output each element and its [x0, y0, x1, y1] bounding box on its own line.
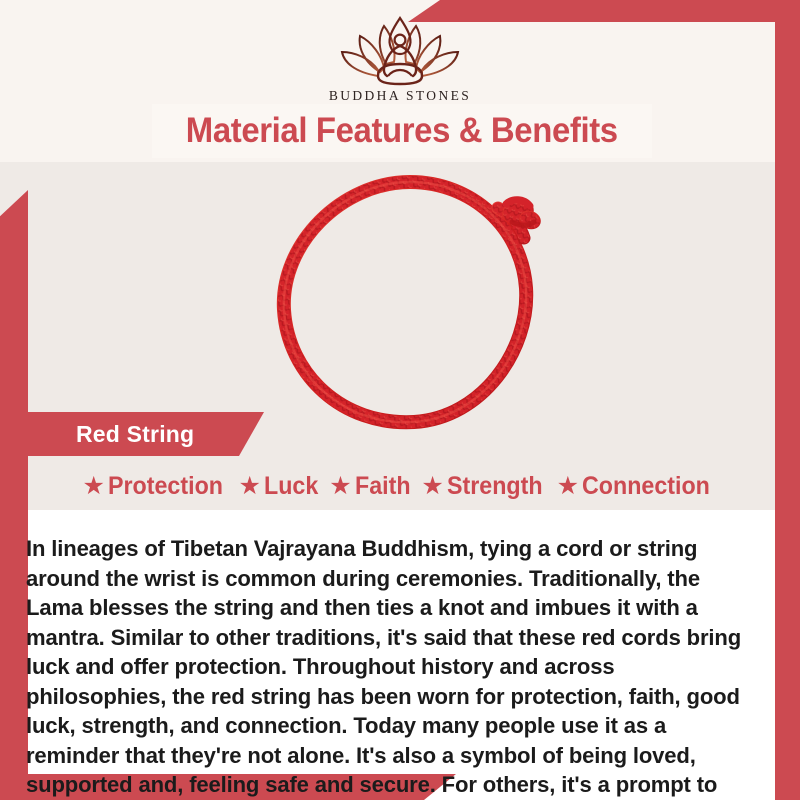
benefit-keyword-protection: ★ Protection: [82, 472, 231, 501]
brand-logo: BUDDHA STONES: [0, 14, 800, 104]
benefit-keyword-label: Protection: [108, 472, 223, 501]
star-icon: ★: [329, 474, 351, 499]
infographic-poster: BUDDHA STONES Material Features & Benefi…: [0, 0, 800, 800]
benefit-keyword-label: Luck: [264, 472, 318, 501]
decorative-red-strip-left: [0, 190, 28, 800]
star-icon: ★: [557, 474, 579, 499]
star-icon: ★: [421, 474, 443, 499]
title-banner: Material Features & Benefits: [152, 104, 652, 158]
lotus-meditation-figure-icon: [334, 14, 466, 86]
star-icon: ★: [82, 474, 104, 499]
red-string-bracelet-illustration: [250, 168, 570, 440]
description-paragraph: In lineages of Tibetan Vajrayana Buddhis…: [26, 534, 757, 800]
benefit-keyword-luck: ★ Luck: [239, 472, 323, 501]
benefit-keyword-connection: ★ Connection: [557, 472, 720, 501]
decorative-red-strip-right: [775, 0, 800, 800]
benefit-keyword-faith: ★ Faith: [329, 472, 414, 501]
benefit-keyword-list: ★ Protection ★ Luck ★ Faith ★ Strength ★…: [28, 466, 774, 506]
product-name-ribbon: Red String: [14, 412, 264, 456]
brand-name: BUDDHA STONES: [0, 88, 800, 104]
star-icon: ★: [239, 474, 261, 499]
product-image-red-string-bracelet: [250, 168, 570, 440]
benefit-keyword-strength: ★ Strength: [421, 472, 549, 501]
page-title: Material Features & Benefits: [186, 111, 618, 151]
product-name-label: Red String: [76, 421, 194, 448]
benefit-keyword-label: Strength: [447, 472, 543, 501]
benefit-keyword-label: Faith: [355, 472, 411, 501]
benefit-keyword-label: Connection: [582, 472, 710, 501]
